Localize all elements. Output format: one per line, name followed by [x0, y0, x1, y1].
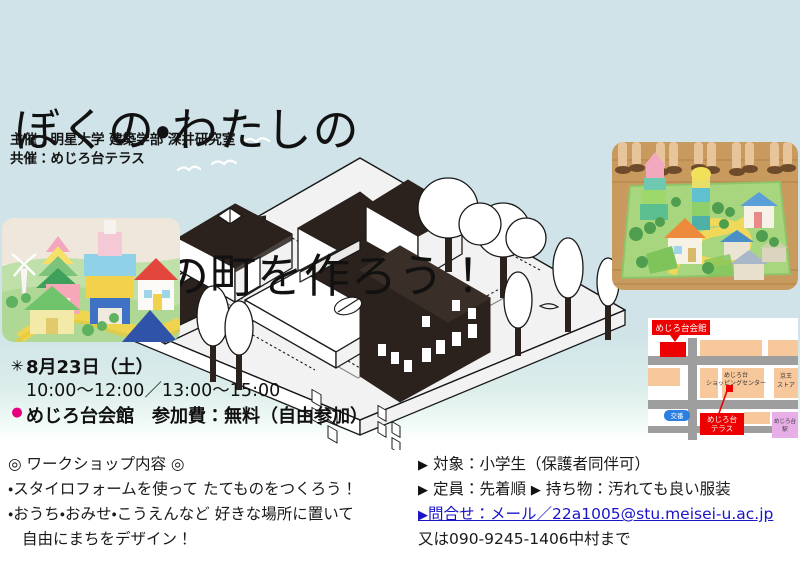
- map-shopping-label-1: めじろ台: [724, 371, 748, 379]
- audience-row-1: ▶ 対象：小学生（保護者同伴可）: [418, 452, 798, 477]
- map-shopping-label-2: ショッピングセンター: [706, 379, 766, 387]
- triangle-icon: ▶: [418, 458, 428, 473]
- triangle-icon-3: ▶: [531, 483, 541, 498]
- audience-bring: 持ち物：汚れても良い服装: [546, 480, 731, 498]
- workshop-item-3: 自由にまちをデザイン！: [8, 527, 408, 552]
- workshop-item-2: ・おうち・おみせ・こうえんなど 好きな場所に置いて: [8, 502, 408, 527]
- workshop-content-column: ◎ ワークショップ内容 ◎ ・スタイロフォームを使って たてものをつくろう！ ・…: [8, 452, 408, 552]
- event-place-row: ● めじろ台会館 参加費：無料（自由参加）: [8, 405, 428, 428]
- host-line-2: 共催：めじろ台テラス: [10, 150, 235, 169]
- map-station-label-1: めじろ台: [774, 417, 797, 425]
- host-block: 主催：明星大学 建築学部 深井研究室 共催：めじろ台テラス: [10, 131, 235, 169]
- poster-root: .wf{fill:#ffffff;stroke:#1a1a1a;stroke-w…: [0, 0, 800, 563]
- map-terrace-label-1: めじろ台: [707, 414, 737, 424]
- audience-row-2: ▶ 定員：先着順 ▶ 持ち物：汚れても良い服装: [418, 477, 798, 502]
- map-keio-label-1: 京王: [780, 372, 792, 380]
- location-map[interactable]: めじろ台会館 めじろ台 ショッピングセンター 京王 ストア 交番 めじろ台 テラ…: [648, 318, 798, 440]
- workshop-item-1: ・スタイロフォームを使って たてものをつくろう！: [8, 477, 408, 502]
- pin-icon: ●: [8, 405, 26, 422]
- map-hall-block: [660, 342, 686, 357]
- audience-capacity: 定員：先着順: [433, 480, 526, 498]
- contact-phone: 又は090-9245-1406中村まで: [418, 527, 798, 552]
- triangle-icon-4: ▶: [418, 508, 428, 523]
- contact-email-link[interactable]: ▶問合せ：メール／22a1005@stu.meisei-u.ac.jp: [418, 502, 773, 527]
- audience-info-column: ▶ 対象：小学生（保護者同伴可） ▶ 定員：先着順 ▶ 持ち物：汚れても良い服装…: [418, 452, 798, 552]
- host-line-1: 主催：明星大学 建築学部 深井研究室: [10, 131, 235, 150]
- event-details: ✳ 8月23日（土） 10:00〜12:00／13:00〜15:00 ● めじろ…: [8, 357, 428, 428]
- event-time: 10:00〜12:00／13:00〜15:00: [26, 381, 428, 402]
- event-place-and-fee: めじろ台会館 参加費：無料（自由参加）: [26, 405, 368, 428]
- map-hall-label: めじろ台会館: [655, 323, 707, 334]
- event-date: 8月23日（土）: [26, 357, 154, 380]
- map-station-label-2: 駅: [782, 426, 788, 433]
- triangle-icon-2: ▶: [418, 483, 428, 498]
- map-terrace-label-2: テラス: [711, 424, 733, 433]
- contact-email-text: 問合せ：メール／22a1005@stu.meisei-u.ac.jp: [428, 505, 773, 523]
- photo-block-town-left: [2, 218, 180, 342]
- map-koban: 交番: [664, 410, 690, 421]
- workshop-heading: ◎ ワークショップ内容 ◎: [8, 452, 408, 477]
- sun-icon: ✳: [8, 357, 26, 377]
- map-keio-label-2: ストア: [777, 382, 795, 389]
- audience-target: 対象：小学生（保護者同伴可）: [433, 455, 650, 473]
- map-koban-label: 交番: [671, 412, 685, 420]
- photo-block-town-right: [612, 142, 798, 290]
- event-date-row: ✳ 8月23日（土）: [8, 357, 428, 380]
- map-station: めじろ台 駅: [772, 412, 798, 438]
